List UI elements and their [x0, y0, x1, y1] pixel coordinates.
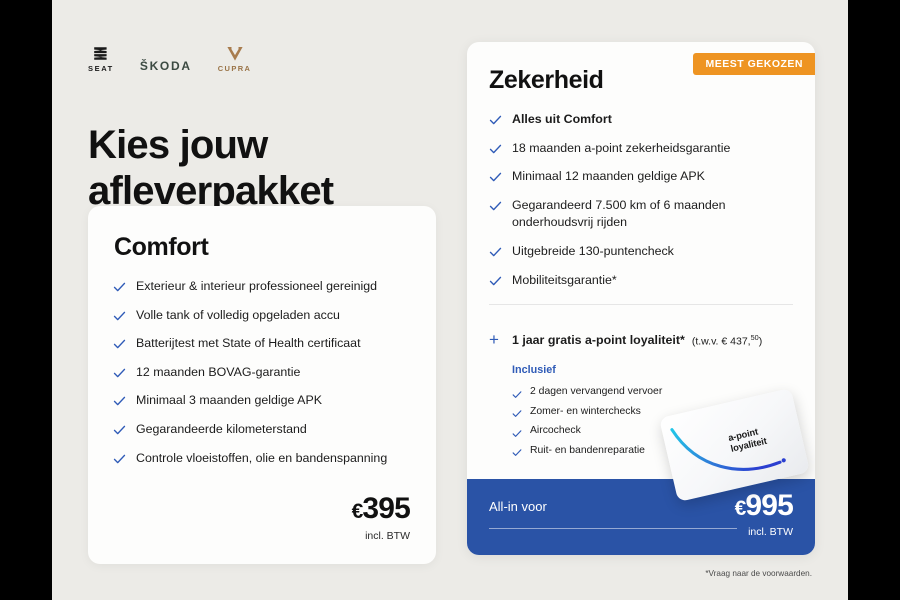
package-card-comfort[interactable]: Comfort Exterieur & interieur profession…: [88, 206, 436, 564]
list-item: Minimaal 3 maanden geldige APK: [113, 392, 413, 410]
loyalty-title: 1 jaar gratis a-point loyaliteit*: [512, 333, 685, 347]
zekerheid-price-note: incl. BTW: [748, 526, 793, 538]
check-icon: [489, 143, 502, 156]
list-item: Exterieur & interieur professioneel gere…: [113, 278, 413, 296]
feature-text: 2 dagen vervangend vervoer: [530, 385, 662, 399]
cupra-logo-icon: [226, 46, 244, 62]
brand-skoda: ŠKODA: [140, 60, 192, 72]
list-item: Minimaal 12 maanden geldige APK: [489, 168, 799, 186]
price-value: 395: [362, 492, 410, 525]
brand-seat: SEAT: [88, 45, 114, 73]
comfort-title: Comfort: [114, 233, 208, 262]
feature-text: Uitgebreide 130-puntencheck: [512, 243, 674, 261]
inclusief-label: Inclusief: [512, 364, 556, 376]
skoda-wordmark-icon: ŠKODA: [140, 60, 192, 72]
feature-text: Aircocheck: [530, 424, 581, 438]
feature-text: Mobiliteitsgarantie*: [512, 272, 617, 290]
list-item: Mobiliteitsgarantie*: [489, 272, 799, 290]
list-item: Uitgebreide 130-puntencheck: [489, 243, 799, 261]
zekerheid-price: €995: [735, 491, 793, 521]
feature-text: Exterieur & interieur professioneel gere…: [136, 278, 377, 296]
zekerheid-feature-list: Alles uit Comfort 18 maanden a-point zek…: [489, 111, 799, 289]
cupra-wordmark: CUPRA: [218, 65, 252, 73]
check-icon: [489, 114, 502, 127]
loyalty-value-cents: 50: [751, 333, 759, 342]
check-icon: [512, 406, 522, 416]
allin-label: All-in voor: [489, 499, 547, 514]
check-icon: [489, 200, 502, 213]
currency-symbol: €: [352, 500, 363, 523]
check-icon: [113, 310, 126, 323]
feature-text: Zomer- en winterchecks: [530, 405, 641, 419]
check-icon: [113, 453, 126, 466]
list-item: 12 maanden BOVAG-garantie: [113, 364, 413, 382]
list-item: Volle tank of volledig opgeladen accu: [113, 307, 413, 325]
section-divider: [489, 304, 793, 305]
comfort-price: €395: [352, 494, 410, 524]
page-title: Kies jouw afleverpakket: [88, 122, 448, 215]
comfort-price-block: €395 incl. BTW: [352, 494, 410, 542]
check-icon: [512, 387, 522, 397]
list-item: Controle vloeistoffen, olie en bandenspa…: [113, 450, 413, 468]
loyalty-value-suffix: ): [759, 335, 763, 347]
allin-price-bar: All-in voor €995 incl. BTW: [467, 479, 815, 555]
check-icon: [489, 275, 502, 288]
feature-text: Controle vloeistoffen, olie en bandenspa…: [136, 450, 387, 468]
check-icon: [113, 424, 126, 437]
currency-symbol: €: [735, 497, 746, 520]
feature-text: Ruit- en bandenreparatie: [530, 444, 645, 458]
plus-icon: +: [489, 331, 502, 348]
comfort-price-note: incl. BTW: [352, 530, 410, 542]
seat-logo-icon: [92, 45, 109, 62]
feature-text: Gegarandeerd 7.500 km of 6 maanden onder…: [512, 197, 799, 232]
feature-text: Batterijtest met State of Health certifi…: [136, 335, 361, 353]
list-item: Batterijtest met State of Health certifi…: [113, 335, 413, 353]
check-icon: [489, 246, 502, 259]
check-icon: [512, 445, 522, 455]
package-card-zekerheid[interactable]: MEEST GEKOZEN Zekerheid Alles uit Comfor…: [467, 42, 815, 555]
price-value: 995: [745, 489, 793, 522]
list-item: 2 dagen vervangend vervoer: [512, 385, 762, 399]
page-title-line1: Kies jouw: [88, 123, 268, 167]
loyalty-value-prefix: (t.w.v. € 437,: [692, 335, 751, 347]
check-icon: [113, 281, 126, 294]
loyalty-headline-row: + 1 jaar gratis a-point loyaliteit* (t.w…: [489, 330, 799, 347]
check-icon: [113, 367, 126, 380]
footnote: *Vraag naar de voorwaarden.: [705, 569, 812, 578]
zekerheid-title: Zekerheid: [489, 66, 604, 95]
feature-text: Gegarandeerde kilometerstand: [136, 421, 307, 439]
brand-cupra: CUPRA: [218, 46, 252, 73]
list-item: Gegarandeerd 7.500 km of 6 maanden onder…: [489, 197, 799, 232]
brand-logo-row: SEAT ŠKODA CUPRA: [88, 42, 251, 72]
loyalty-value: (t.w.v. € 437,50): [692, 333, 762, 348]
feature-text: 18 maanden a-point zekerheidsgarantie: [512, 140, 730, 158]
comfort-feature-list: Exterieur & interieur professioneel gere…: [113, 278, 413, 467]
feature-text: Volle tank of volledig opgeladen accu: [136, 307, 340, 325]
check-icon: [512, 426, 522, 436]
allin-rule: [489, 528, 737, 529]
feature-text: Minimaal 12 maanden geldige APK: [512, 168, 705, 186]
list-item: 18 maanden a-point zekerheidsgarantie: [489, 140, 799, 158]
check-icon: [113, 338, 126, 351]
promo-canvas: SEAT ŠKODA CUPRA Kies jouw afleverpakket: [52, 0, 848, 600]
status-badge: MEEST GEKOZEN: [693, 53, 815, 75]
feature-text: Alles uit Comfort: [512, 111, 612, 129]
check-icon: [489, 171, 502, 184]
screenshot-stage: SEAT ŠKODA CUPRA Kies jouw afleverpakket: [0, 0, 900, 600]
list-item: Gegarandeerde kilometerstand: [113, 421, 413, 439]
feature-text: Minimaal 3 maanden geldige APK: [136, 392, 322, 410]
check-icon: [113, 395, 126, 408]
list-item: Alles uit Comfort: [489, 111, 799, 129]
seat-wordmark: SEAT: [88, 65, 114, 73]
feature-text: 12 maanden BOVAG-garantie: [136, 364, 300, 382]
